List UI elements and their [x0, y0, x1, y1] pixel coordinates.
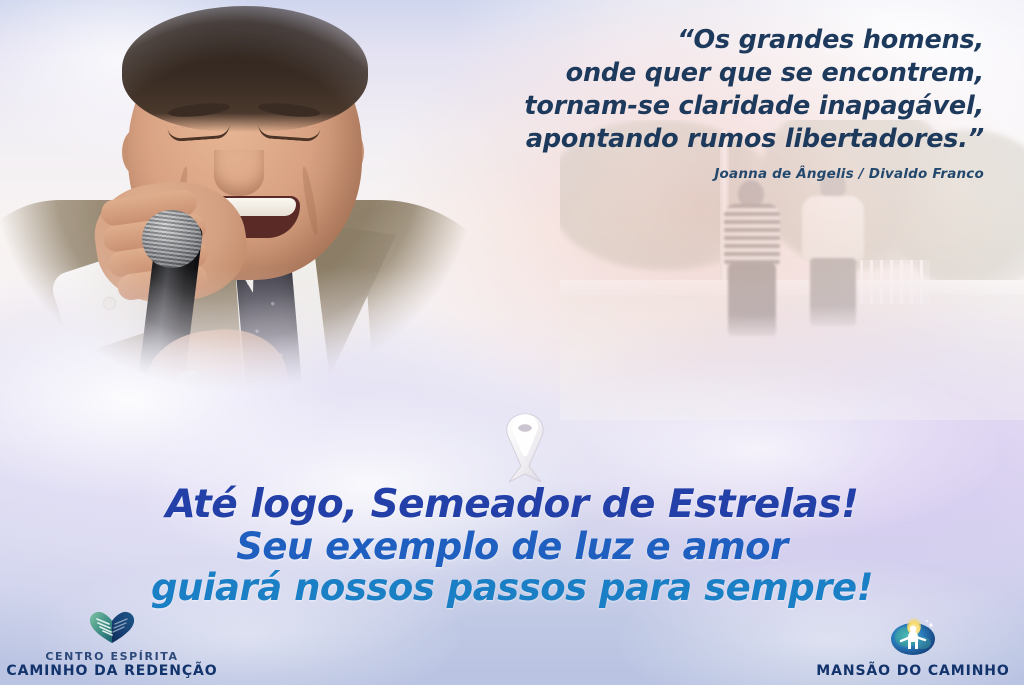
- ground-shape: [560, 295, 1024, 420]
- quote-line-3: tornam-se claridade inapagável,: [424, 90, 984, 123]
- headline-line-2: Seu exemplo de luz e amor: [0, 526, 1024, 567]
- background-person-striped: [720, 180, 790, 360]
- divaldo-franco-portrait: [0, 0, 470, 430]
- quote-block: “Os grandes homens, onde quer que se enc…: [424, 24, 984, 182]
- background-person-white: [798, 172, 878, 362]
- headline-line-1: Até logo, Semeador de Estrelas!: [0, 484, 1024, 526]
- white-ribbon-icon: [487, 408, 563, 486]
- logo-right-line-1: MANSÃO DO CAMINHO: [808, 663, 1018, 679]
- memorial-poster: “Os grandes homens, onde quer que se enc…: [0, 0, 1024, 685]
- quote-line-4: apontando rumos libertadores.”: [424, 123, 984, 156]
- logo-mansao-do-caminho: MANSÃO DO CAMINHO: [808, 615, 1018, 679]
- logo-left-line-1: CENTRO ESPÍRITA: [6, 650, 218, 663]
- portrait-fade-overlay: [0, 0, 470, 430]
- quote-line-2: onde quer que se encontrem,: [424, 57, 984, 90]
- headline-block: Até logo, Semeador de Estrelas! Seu exem…: [0, 484, 1024, 608]
- heart-hands-icon: [6, 610, 218, 648]
- headline-line-3: guiará nossos passos para sempre!: [0, 567, 1024, 608]
- globe-figure-icon: [808, 615, 1018, 661]
- quote-line-1: “Os grandes homens,: [424, 24, 984, 57]
- logo-centro-espirita: CENTRO ESPÍRITA CAMINHO DA REDENÇÃO: [6, 610, 218, 679]
- quote-credit: Joanna de Ângelis / Divaldo Franco: [424, 166, 984, 182]
- logo-left-line-2: CAMINHO DA REDENÇÃO: [6, 663, 218, 679]
